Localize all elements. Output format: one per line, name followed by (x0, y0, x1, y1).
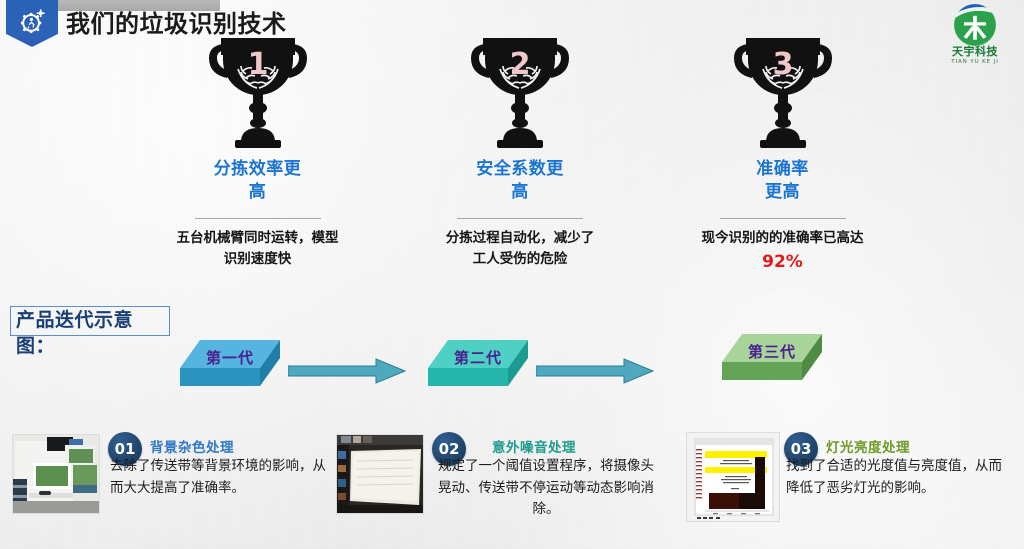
feature-card-02: 02 意外噪音处理 规定了一个阈值设置程序，将摄像头晃动、传送带不停运动等动态影… (336, 424, 666, 549)
feature-card-01: 01 背景杂色处理 去除了传送带等背景环境的影响，从而大大提高了准确率。 (12, 424, 337, 549)
trophy-icon: 2 (455, 24, 585, 148)
trophy-icon: 3 (718, 24, 848, 148)
right-arrow-icon (536, 358, 654, 384)
feature-body: 规定了一个阈值设置程序，将摄像头晃动、传送带不停运动等动态影响消除。 (434, 456, 658, 521)
generation-label: 第一代 (170, 347, 290, 368)
trophy-rank-2: 2 (510, 47, 531, 82)
photo-thumbnail-machine (12, 434, 100, 514)
advantage-desc: 现今识别的的准确率已高达 92% (678, 228, 888, 275)
gear-person-icon (6, 0, 58, 47)
feature-heading: 灯光亮度处理 (826, 436, 910, 456)
generation-block-3[interactable]: 第三代 (712, 330, 832, 396)
divider (195, 218, 321, 219)
advantage-column-2: 2 安全系数更高 分拣过程自动化，减少了工人受伤的危险 (413, 24, 628, 279)
section-title: 产品迭代示意图： (16, 308, 196, 359)
generation-block-2[interactable]: 第二代 (418, 336, 538, 402)
accuracy-highlight: 92% (762, 252, 803, 272)
divider (457, 218, 583, 219)
advantage-title: 准确率更高 (756, 158, 809, 204)
photo-thumbnail-chart (686, 432, 780, 522)
advantage-title: 分拣效率更高 (214, 158, 302, 204)
features-row: 01 背景杂色处理 去除了传送带等背景环境的影响，从而大大提高了准确率。 (0, 424, 1024, 549)
trophy-rank-1: 1 (247, 47, 268, 82)
generation-block-1[interactable]: 第一代 (170, 336, 290, 402)
feature-heading: 背景杂色处理 (150, 436, 234, 456)
brand-name-cn: 天宇科技 (938, 46, 1012, 58)
trophy-icon: 1 (193, 24, 323, 148)
advantage-column-1: 1 分拣效率更高 五台机械臂同时运转，模型识别速度快 (150, 24, 365, 279)
brand-logo: 天宇科技 TIAN YU KE JI (938, 2, 1012, 65)
feature-card-03: 03 灯光亮度处理 找到了合适的光度值与亮度值，从而降低了恶劣灯光的影响。 (678, 424, 1024, 549)
divider (720, 218, 846, 219)
feature-heading: 意外噪音处理 (492, 436, 576, 456)
generation-label: 第三代 (712, 341, 832, 362)
advantage-desc-text: 现今识别的的准确率已高达 (702, 230, 864, 246)
right-arrow-icon (288, 358, 406, 384)
trophy-rank-3: 3 (772, 47, 793, 82)
advantage-desc: 五台机械臂同时运转，模型识别速度快 (153, 228, 363, 270)
tianyu-circle-logo (952, 2, 998, 48)
advantages-row: 1 分拣效率更高 五台机械臂同时运转，模型识别速度快 (150, 24, 890, 279)
feature-body: 去除了传送带等背景环境的影响，从而大大提高了准确率。 (110, 456, 328, 499)
brand-name-pinyin: TIAN YU KE JI (938, 59, 1012, 65)
feature-body: 找到了合适的光度值与亮度值，从而降低了恶劣灯光的影响。 (786, 456, 1012, 499)
slide-root: 我们的垃圾识别技术 天宇科技 TIAN YU KE JI (0, 0, 1024, 549)
iteration-flow: 第一代 第二代 第三代 (170, 336, 1020, 408)
advantage-title: 安全系数更高 (476, 158, 564, 204)
generation-label: 第二代 (418, 347, 538, 368)
photo-thumbnail-paper (336, 434, 424, 514)
advantage-desc: 分拣过程自动化，减少了工人受伤的危险 (415, 228, 625, 270)
advantage-column-3: 3 准确率更高 现今识别的的准确率已高达 92% (675, 24, 890, 279)
